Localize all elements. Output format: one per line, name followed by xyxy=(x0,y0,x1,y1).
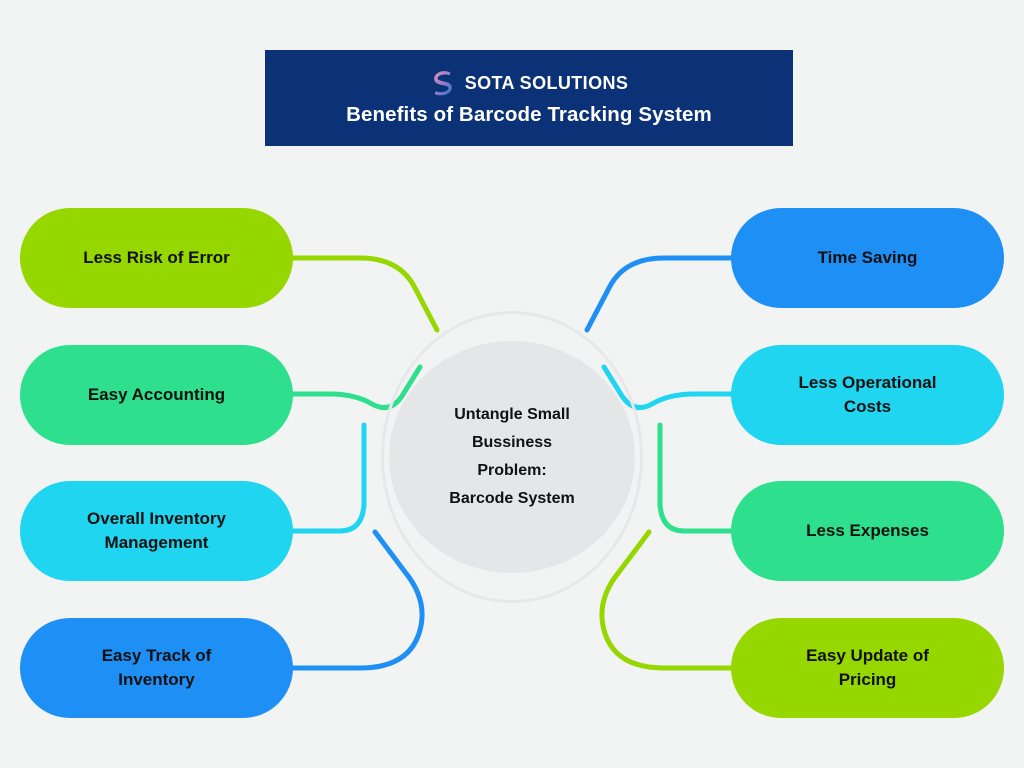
benefit-label: Less Operational Costs xyxy=(799,371,937,419)
infographic-canvas: SOTA SOLUTIONS Benefits of Barcode Track… xyxy=(0,0,1024,768)
connector-left-3 xyxy=(293,425,364,531)
benefit-label: Overall Inventory Management xyxy=(87,507,226,555)
benefit-label: Easy Track of Inventory xyxy=(102,644,212,692)
benefit-label: Less Risk of Error xyxy=(83,246,229,270)
benefit-pill-less-operational-costs[interactable]: Less Operational Costs xyxy=(731,345,1004,445)
brand-name: SOTA SOLUTIONS xyxy=(465,73,629,94)
benefit-label: Less Expenses xyxy=(806,519,929,543)
benefit-label: Time Saving xyxy=(818,246,918,270)
connector-right-1 xyxy=(587,258,731,330)
benefit-label: Easy Update of Pricing xyxy=(806,644,929,692)
benefit-pill-less-risk-of-error[interactable]: Less Risk of Error xyxy=(20,208,293,308)
connector-right-3 xyxy=(660,425,731,531)
benefit-pill-easy-accounting[interactable]: Easy Accounting xyxy=(20,345,293,445)
benefit-pill-time-saving[interactable]: Time Saving xyxy=(731,208,1004,308)
center-hub-label: Untangle Small Bussiness Problem: Barcod… xyxy=(389,341,635,573)
sota-s-logo-icon xyxy=(430,69,456,97)
benefit-label: Easy Accounting xyxy=(88,383,225,407)
banner-title: Benefits of Barcode Tracking System xyxy=(346,103,712,127)
benefit-pill-less-expenses[interactable]: Less Expenses xyxy=(731,481,1004,581)
benefit-pill-easy-track-of-inventory[interactable]: Easy Track of Inventory xyxy=(20,618,293,718)
brand-row: SOTA SOLUTIONS xyxy=(430,69,629,97)
header-banner: SOTA SOLUTIONS Benefits of Barcode Track… xyxy=(265,50,793,146)
benefit-pill-easy-update-of-pricing[interactable]: Easy Update of Pricing xyxy=(731,618,1004,718)
connector-left-1 xyxy=(293,258,437,330)
benefit-pill-overall-inventory-management[interactable]: Overall Inventory Management xyxy=(20,481,293,581)
